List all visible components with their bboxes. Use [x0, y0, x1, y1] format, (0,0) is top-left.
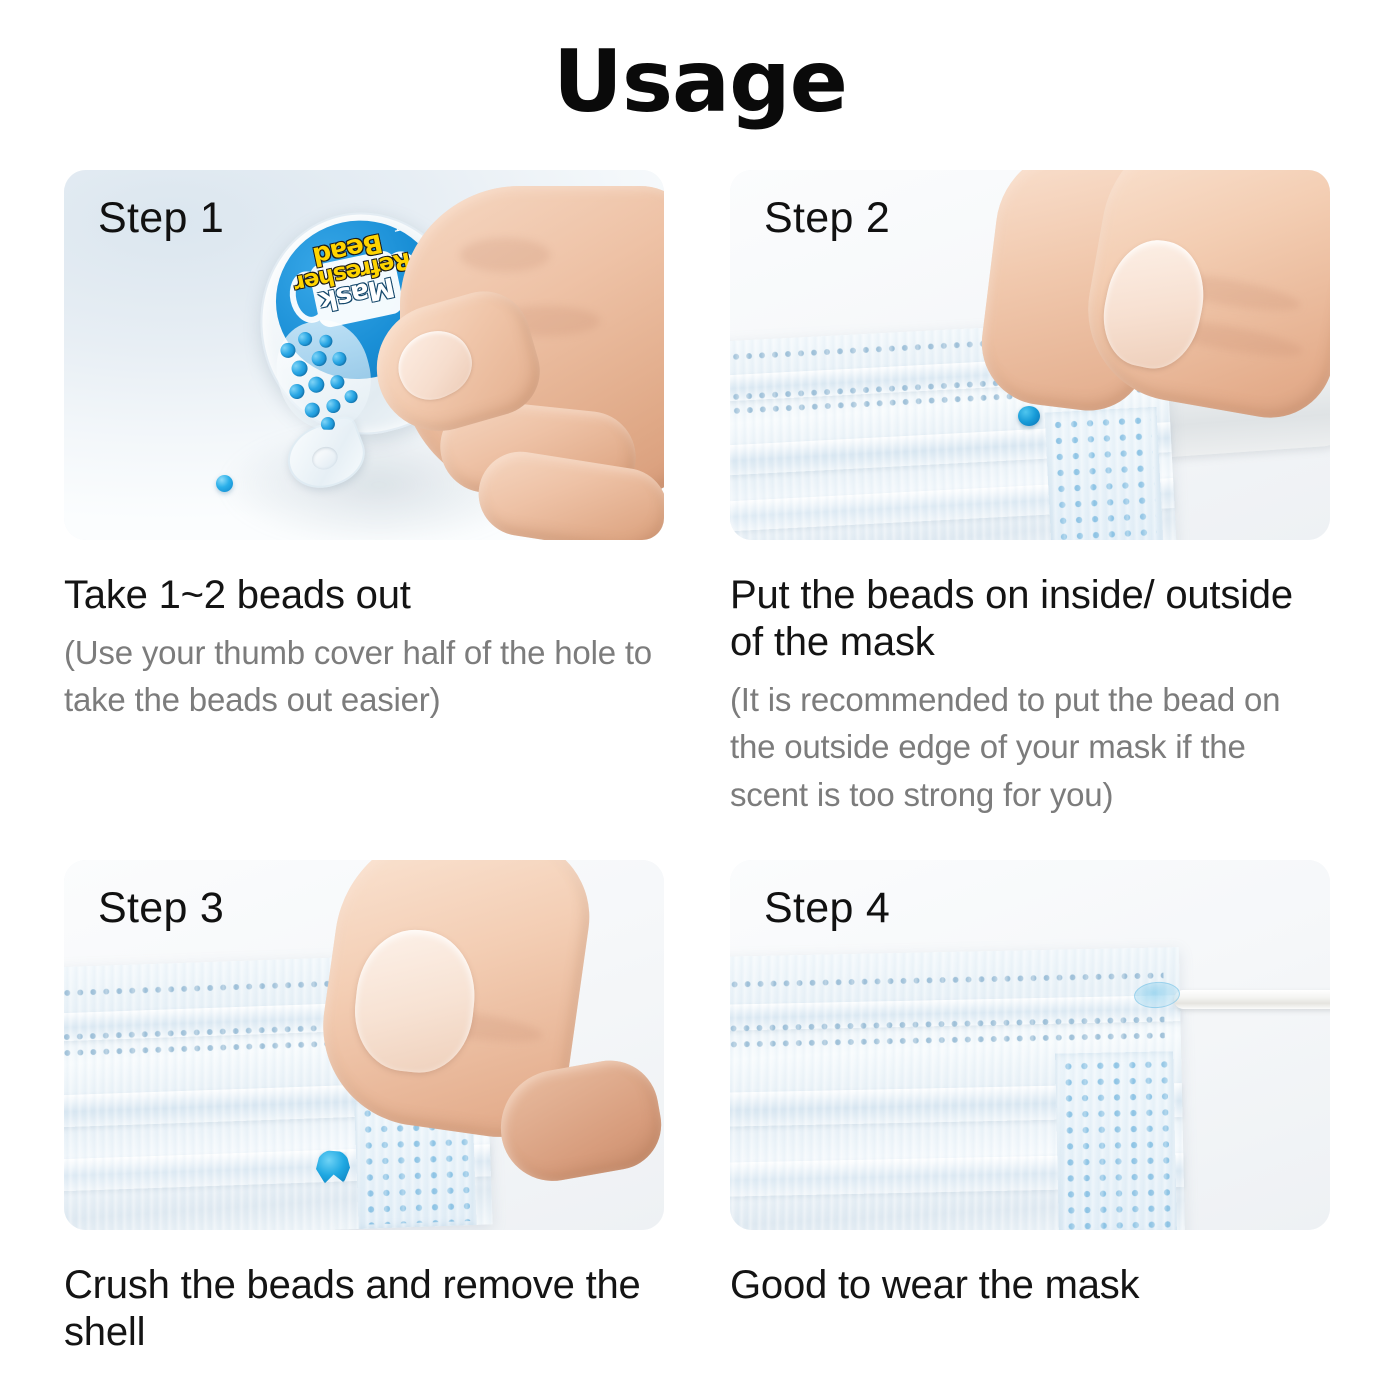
step-4-photo: Step 4: [730, 860, 1330, 1230]
step-2-caption: Put the beads on inside/ outside of the …: [730, 572, 1330, 666]
hand: [370, 170, 664, 540]
step-3-label: Step 3: [98, 884, 224, 933]
face-mask: [730, 947, 1185, 1230]
step-1-label: Step 1: [98, 194, 224, 243]
step-3-caption-block: Crush the beads and remove the shell: [64, 1262, 664, 1356]
hand: [310, 860, 664, 1160]
step-3-photo: Step 3: [64, 860, 664, 1230]
step-1-subcaption: (Use your thumb cover half of the hole t…: [64, 629, 664, 724]
step-2-caption-block: Put the beads on inside/ outside of the …: [730, 572, 1330, 818]
step-2-subcaption: (It is recommended to put the bead on th…: [730, 676, 1330, 819]
step-1-caption-block: Take 1~2 beads out (Use your thumb cover…: [64, 572, 664, 724]
step-4-label: Step 4: [764, 884, 890, 933]
step-card-2: Step 2 Put the beads on inside/ outside …: [730, 170, 1330, 818]
step-card-4: Step 4 Good to wear the mask: [730, 860, 1330, 1309]
step-4-caption: Good to wear the mask: [730, 1262, 1330, 1309]
step-2-photo: Step 2: [730, 170, 1330, 540]
step-card-1: Mask Refresher Bead MINT Coolburstbead: [64, 170, 664, 724]
page-title: Usage: [0, 32, 1400, 132]
bead-on-mask: [1018, 406, 1040, 426]
ear-loop: [1174, 990, 1330, 1009]
step-card-3: Step 3 Crush the beads and remove the sh…: [64, 860, 664, 1356]
step-4-caption-block: Good to wear the mask: [730, 1262, 1330, 1309]
thumbnail: [387, 319, 482, 411]
step-1-photo: Mask Refresher Bead MINT Coolburstbead: [64, 170, 664, 540]
step-3-caption: Crush the beads and remove the shell: [64, 1262, 664, 1356]
step-2-label: Step 2: [764, 194, 890, 243]
loose-bead: [216, 475, 233, 492]
step-1-caption: Take 1~2 beads out: [64, 572, 664, 619]
